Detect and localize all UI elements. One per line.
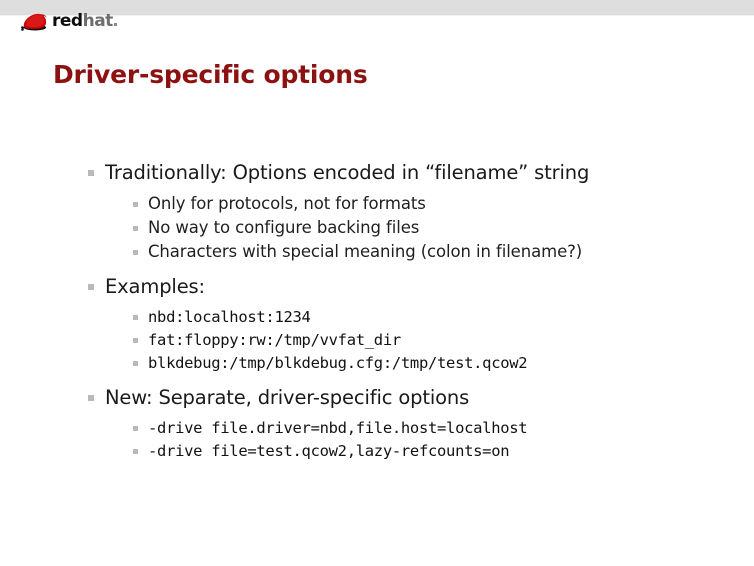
logo-word-hat: hat (83, 11, 113, 31)
bullet-marker-icon (133, 250, 138, 255)
bullet-text: Examples: (105, 274, 205, 299)
spacer (0, 376, 754, 385)
bullet-level1: New: Separate, driver-specific options (0, 385, 754, 414)
bullet-level2-code: -drive file=test.qcow2,lazy-refcounts=on (0, 441, 754, 464)
bullet-marker-icon (133, 226, 138, 231)
bullet-marker-icon (133, 361, 138, 366)
bullet-marker-icon (88, 170, 94, 176)
bullet-level1: Examples: (0, 274, 754, 303)
redhat-fedora-icon (20, 10, 50, 32)
page-title: Driver-specific options (53, 60, 368, 89)
slide-body: Traditionally: Options encoded in “filen… (0, 160, 754, 464)
code-text: blkdebug:/tmp/blkdebug.cfg:/tmp/test.qco… (148, 353, 527, 374)
bullet-marker-icon (133, 315, 138, 320)
bullet-text: Traditionally: Options encoded in “filen… (105, 160, 589, 185)
spacer (0, 265, 754, 274)
bullet-marker-icon (88, 284, 94, 290)
bullet-level2-code: -drive file.driver=nbd,file.host=localho… (0, 418, 754, 441)
bullet-level2-code: fat:floppy:rw:/tmp/vvfat_dir (0, 330, 754, 353)
bullet-text: Only for protocols, not for formats (148, 193, 426, 215)
code-text: fat:floppy:rw:/tmp/vvfat_dir (148, 330, 401, 351)
bullet-marker-icon (88, 395, 94, 401)
logo-word-red: red (52, 11, 83, 31)
bullet-text: No way to configure backing files (148, 217, 419, 239)
code-text: -drive file.driver=nbd,file.host=localho… (148, 418, 527, 439)
bullet-marker-icon (133, 338, 138, 343)
bullet-level2-code: blkdebug:/tmp/blkdebug.cfg:/tmp/test.qco… (0, 353, 754, 376)
bullet-marker-icon (133, 202, 138, 207)
bullet-level1: Traditionally: Options encoded in “filen… (0, 160, 754, 189)
code-text: -drive file=test.qcow2,lazy-refcounts=on (148, 441, 509, 462)
bullet-level2-code: nbd:localhost:1234 (0, 307, 754, 330)
bullet-text: Characters with special meaning (colon i… (148, 241, 582, 263)
bullet-marker-icon (133, 449, 138, 454)
bullet-marker-icon (133, 426, 138, 431)
code-text: nbd:localhost:1234 (148, 307, 311, 328)
redhat-logo: redhat (20, 7, 117, 35)
bullet-level2: No way to configure backing files (0, 217, 754, 241)
bullet-level2: Only for protocols, not for formats (0, 193, 754, 217)
logo-dot (114, 23, 117, 26)
bullet-text: New: Separate, driver-specific options (105, 385, 469, 410)
redhat-wordmark: redhat (52, 13, 117, 30)
bullet-level2: Characters with special meaning (colon i… (0, 241, 754, 265)
